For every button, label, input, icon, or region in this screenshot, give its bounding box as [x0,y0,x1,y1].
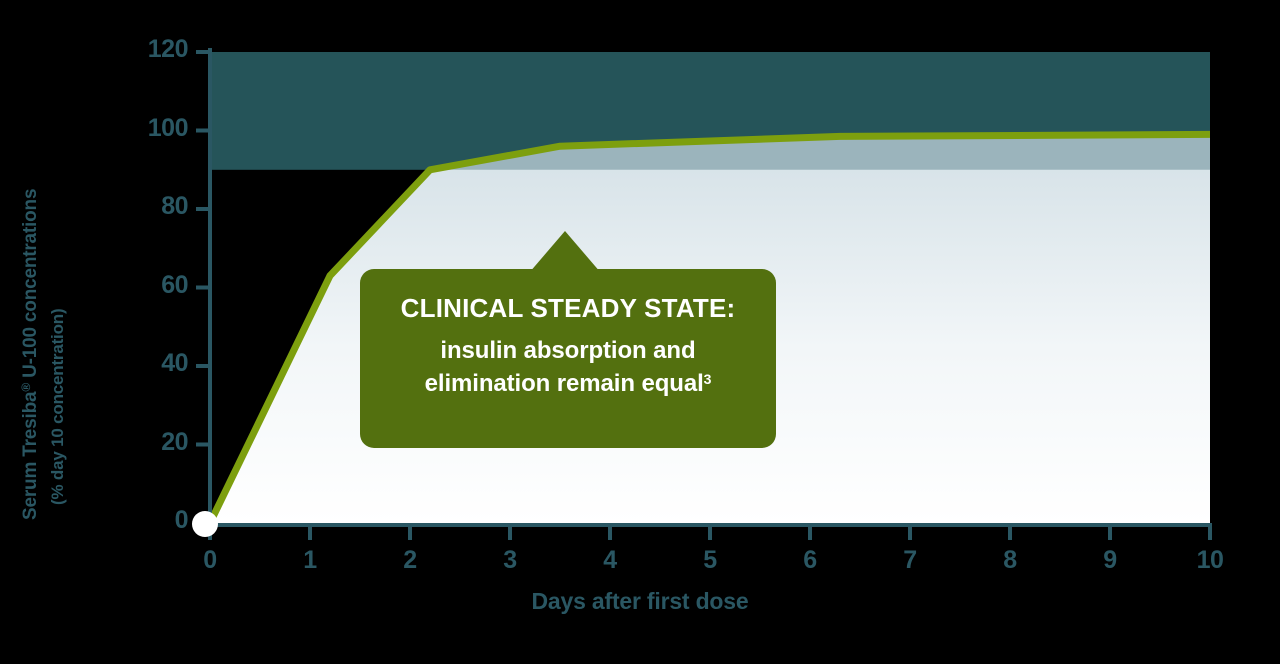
callout-body-line-2: elimination remain equal3 [360,367,776,400]
x-tick-label: 1 [287,546,333,575]
y-axis-ticks [196,52,210,523]
callout-body-text: elimination remain equal [425,370,704,397]
y-tick-label: 120 [128,35,188,64]
x-axis-title: Days after first dose [0,588,1280,615]
x-tick-label: 3 [487,546,533,575]
callout-heading: CLINICAL STEADY STATE: [360,293,776,324]
chart-figure: Serum Tresiba® U-100 concentrations (% d… [0,0,1280,664]
x-tick-label: 4 [587,546,633,575]
y-tick-label: 0 [128,506,188,535]
callout-body-line-1: insulin absorption and [360,334,776,367]
x-tick-label: 0 [187,546,233,575]
x-tick-label: 8 [987,546,1033,575]
x-tick-label: 2 [387,546,433,575]
origin-marker [192,511,218,537]
x-tick-label: 6 [787,546,833,575]
x-axis-ticks [210,525,1210,540]
callout-reference-marker: 3 [704,371,712,387]
x-tick-label: 5 [687,546,733,575]
y-tick-label: 100 [128,114,188,143]
y-tick-label: 80 [128,192,188,221]
y-tick-label: 60 [128,271,188,300]
clinical-steady-state-callout: CLINICAL STEADY STATE: insulin absorptio… [360,269,776,448]
x-tick-label: 9 [1087,546,1133,575]
y-tick-label: 40 [128,349,188,378]
x-tick-label: 10 [1187,546,1233,575]
y-tick-label: 20 [128,428,188,457]
x-tick-label: 7 [887,546,933,575]
callout-tail [529,231,601,273]
